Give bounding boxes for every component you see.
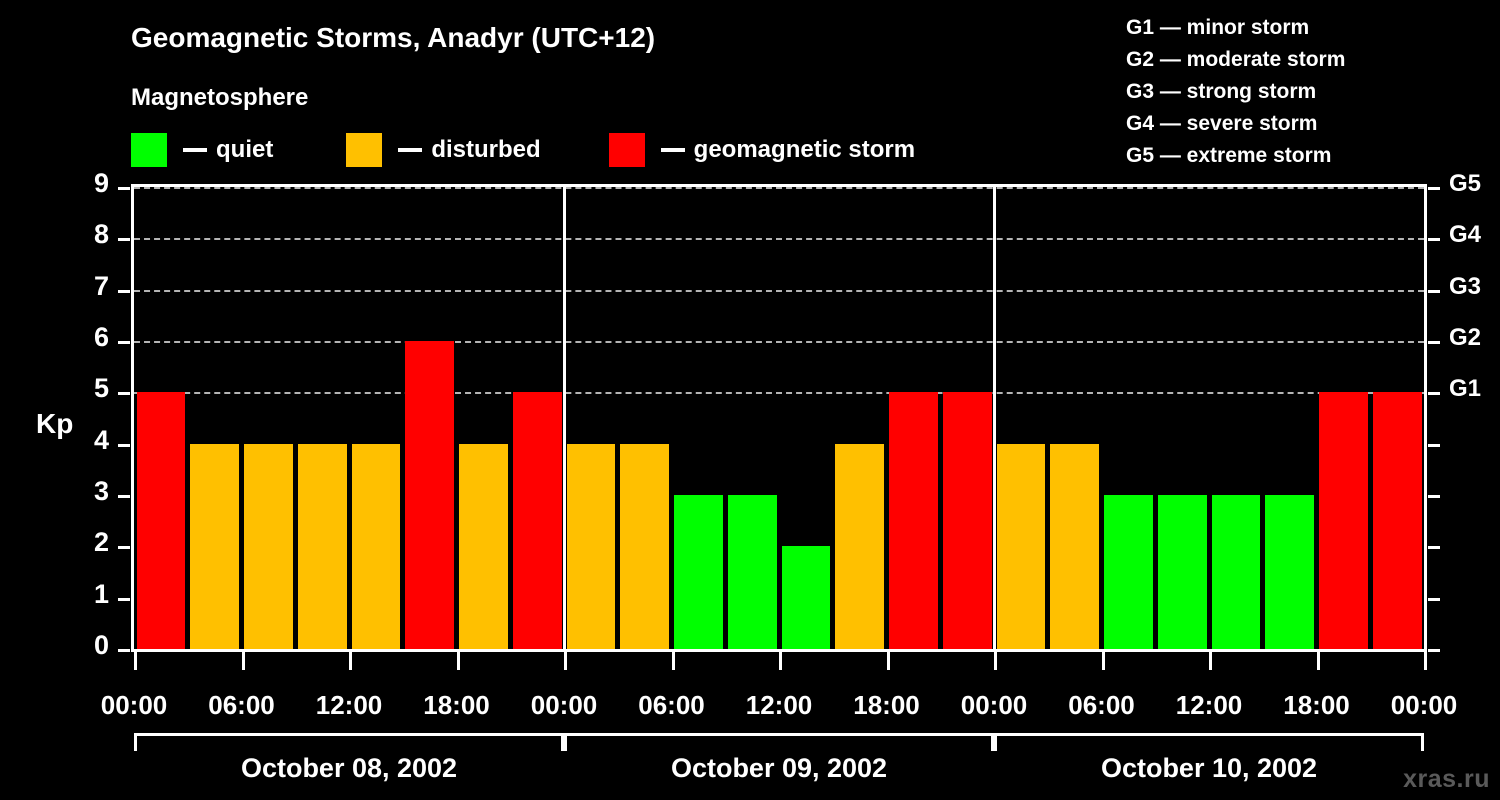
- g-legend-desc: — severe storm: [1154, 112, 1317, 135]
- x-tick-mark-9: [1102, 652, 1105, 670]
- x-tick-mark-12: [1424, 652, 1427, 670]
- bar: [1104, 495, 1153, 649]
- bar: [1373, 392, 1422, 649]
- bar: [567, 444, 616, 649]
- bar: [190, 444, 239, 649]
- x-tick-mark-2: [349, 652, 352, 670]
- x-tick-label-12: 00:00: [1364, 690, 1484, 721]
- x-tick-label-9: 06:00: [1042, 690, 1162, 721]
- x-tick-mark-6: [779, 652, 782, 670]
- bar: [1050, 444, 1099, 649]
- legend-dash-icon: [398, 148, 422, 152]
- bar: [405, 341, 454, 649]
- g-tick-label-g1: G1: [1449, 375, 1500, 403]
- y-tick-label-9: 9: [69, 168, 109, 199]
- g-legend-row-g4: G4 — severe storm: [1126, 108, 1486, 140]
- bar: [459, 444, 508, 649]
- quiet-swatch: [131, 133, 167, 167]
- day-bracket: [994, 733, 1424, 751]
- gridline-kp-9: [134, 187, 1424, 189]
- day-bracket: [564, 733, 994, 751]
- color-legend: quiet disturbed geomagnetic storm: [131, 131, 915, 169]
- day-label: October 09, 2002: [564, 753, 994, 784]
- bar: [674, 495, 723, 649]
- chart-page: Geomagnetic Storms, Anadyr (UTC+12) Magn…: [0, 0, 1500, 800]
- y-tick-mark-4: [118, 444, 130, 447]
- x-tick-label-8: 00:00: [934, 690, 1054, 721]
- day-bracket: [134, 733, 564, 751]
- chart-subtitle: Magnetosphere: [131, 84, 308, 112]
- y-tick-mark-6: [118, 341, 130, 344]
- bar: [1158, 495, 1207, 649]
- y-tick-mark-1: [118, 598, 130, 601]
- y-tick-label-4: 4: [69, 425, 109, 456]
- storm-swatch: [609, 133, 645, 167]
- y-axis-title: Kp: [36, 408, 73, 440]
- watermark: xras.ru: [1403, 765, 1490, 794]
- g-legend-code: G5: [1126, 144, 1154, 167]
- x-tick-mark-5: [672, 652, 675, 670]
- legend-entry-quiet: quiet: [131, 133, 273, 167]
- x-tick-mark-3: [457, 652, 460, 670]
- g-tick-label-g5: G5: [1449, 170, 1500, 198]
- page-title: Geomagnetic Storms, Anadyr (UTC+12): [131, 22, 655, 54]
- g-legend-desc: — minor storm: [1154, 16, 1309, 39]
- x-tick-label-2: 12:00: [289, 690, 409, 721]
- y-tick-mark-8: [118, 238, 130, 241]
- x-tick-label-10: 12:00: [1149, 690, 1269, 721]
- x-tick-mark-7: [887, 652, 890, 670]
- y-tick-label-3: 3: [69, 476, 109, 507]
- y-tick-mark-7: [118, 290, 130, 293]
- g-legend-code: G3: [1126, 80, 1154, 103]
- x-tick-label-7: 18:00: [827, 690, 947, 721]
- day-label: October 08, 2002: [134, 753, 564, 784]
- x-tick-mark-8: [994, 652, 997, 670]
- bar: [728, 495, 777, 649]
- y-tick-label-0: 0: [69, 630, 109, 661]
- plot-area: [134, 187, 1424, 649]
- day-label: October 10, 2002: [994, 753, 1424, 784]
- g-tick-mark-kp-6: [1428, 341, 1440, 344]
- bar: [137, 392, 186, 649]
- g-tick-mark-kp-0: [1428, 649, 1440, 652]
- legend-entry-disturbed: disturbed: [346, 133, 540, 167]
- bar: [1265, 495, 1314, 649]
- disturbed-swatch: [346, 133, 382, 167]
- g-scale-legend: G1 — minor stormG2 — moderate stormG3 — …: [1126, 12, 1486, 172]
- x-tick-label-11: 18:00: [1257, 690, 1377, 721]
- y-tick-label-5: 5: [69, 373, 109, 404]
- x-tick-mark-1: [242, 652, 245, 670]
- bar: [1212, 495, 1261, 649]
- g-tick-mark-kp-4: [1428, 444, 1440, 447]
- y-tick-mark-3: [118, 495, 130, 498]
- x-tick-mark-11: [1317, 652, 1320, 670]
- legend-label-quiet: quiet: [216, 138, 273, 162]
- gridline-kp-5: [134, 392, 1424, 394]
- y-tick-mark-2: [118, 546, 130, 549]
- legend-entry-storm: geomagnetic storm: [609, 133, 915, 167]
- day-divider: [563, 187, 566, 649]
- x-tick-label-3: 18:00: [397, 690, 517, 721]
- y-tick-mark-0: [118, 649, 130, 652]
- g-tick-mark-kp-3: [1428, 495, 1440, 498]
- bar: [620, 444, 669, 649]
- y-tick-label-1: 1: [69, 579, 109, 610]
- y-tick-label-8: 8: [69, 219, 109, 250]
- y-tick-label-2: 2: [69, 527, 109, 558]
- bar: [835, 444, 884, 649]
- y-tick-mark-5: [118, 392, 130, 395]
- y-tick-label-6: 6: [69, 322, 109, 353]
- g-legend-row-g1: G1 — minor storm: [1126, 12, 1486, 44]
- g-tick-mark-kp-8: [1428, 238, 1440, 241]
- gridline-kp-6: [134, 341, 1424, 343]
- legend-label-storm: geomagnetic storm: [694, 138, 915, 162]
- g-tick-label-g4: G4: [1449, 221, 1500, 249]
- bar: [997, 444, 1046, 649]
- bar: [889, 392, 938, 649]
- day-divider: [993, 187, 996, 649]
- bar: [1319, 392, 1368, 649]
- bar: [244, 444, 293, 649]
- bar: [782, 546, 831, 649]
- bar: [943, 392, 992, 649]
- x-tick-label-4: 00:00: [504, 690, 624, 721]
- x-tick-label-0: 00:00: [74, 690, 194, 721]
- g-legend-row-g3: G3 — strong storm: [1126, 76, 1486, 108]
- g-legend-code: G2: [1126, 48, 1154, 71]
- g-legend-desc: — extreme storm: [1154, 144, 1331, 167]
- g-legend-row-g5: G5 — extreme storm: [1126, 140, 1486, 172]
- legend-dash-icon: [661, 148, 685, 152]
- g-tick-mark-kp-5: [1428, 392, 1440, 395]
- g-tick-mark-kp-7: [1428, 290, 1440, 293]
- bar: [298, 444, 347, 649]
- g-legend-code: G1: [1126, 16, 1154, 39]
- bar: [352, 444, 401, 649]
- plot-frame: [131, 184, 1427, 652]
- g-tick-label-g2: G2: [1449, 324, 1500, 352]
- y-tick-mark-9: [118, 187, 130, 190]
- x-tick-label-6: 12:00: [719, 690, 839, 721]
- x-tick-mark-10: [1209, 652, 1212, 670]
- x-tick-mark-0: [134, 652, 137, 670]
- g-legend-row-g2: G2 — moderate storm: [1126, 44, 1486, 76]
- g-legend-desc: — strong storm: [1154, 80, 1316, 103]
- y-tick-label-7: 7: [69, 271, 109, 302]
- legend-label-disturbed: disturbed: [431, 138, 540, 162]
- x-tick-label-1: 06:00: [182, 690, 302, 721]
- x-tick-label-5: 06:00: [612, 690, 732, 721]
- gridline-kp-7: [134, 290, 1424, 292]
- x-tick-mark-4: [564, 652, 567, 670]
- legend-dash-icon: [183, 148, 207, 152]
- g-tick-mark-kp-9: [1428, 187, 1440, 190]
- g-tick-mark-kp-2: [1428, 546, 1440, 549]
- bar: [513, 392, 562, 649]
- gridline-kp-8: [134, 238, 1424, 240]
- g-legend-desc: — moderate storm: [1154, 48, 1345, 71]
- g-tick-label-g3: G3: [1449, 273, 1500, 301]
- g-legend-code: G4: [1126, 112, 1154, 135]
- g-tick-mark-kp-1: [1428, 598, 1440, 601]
